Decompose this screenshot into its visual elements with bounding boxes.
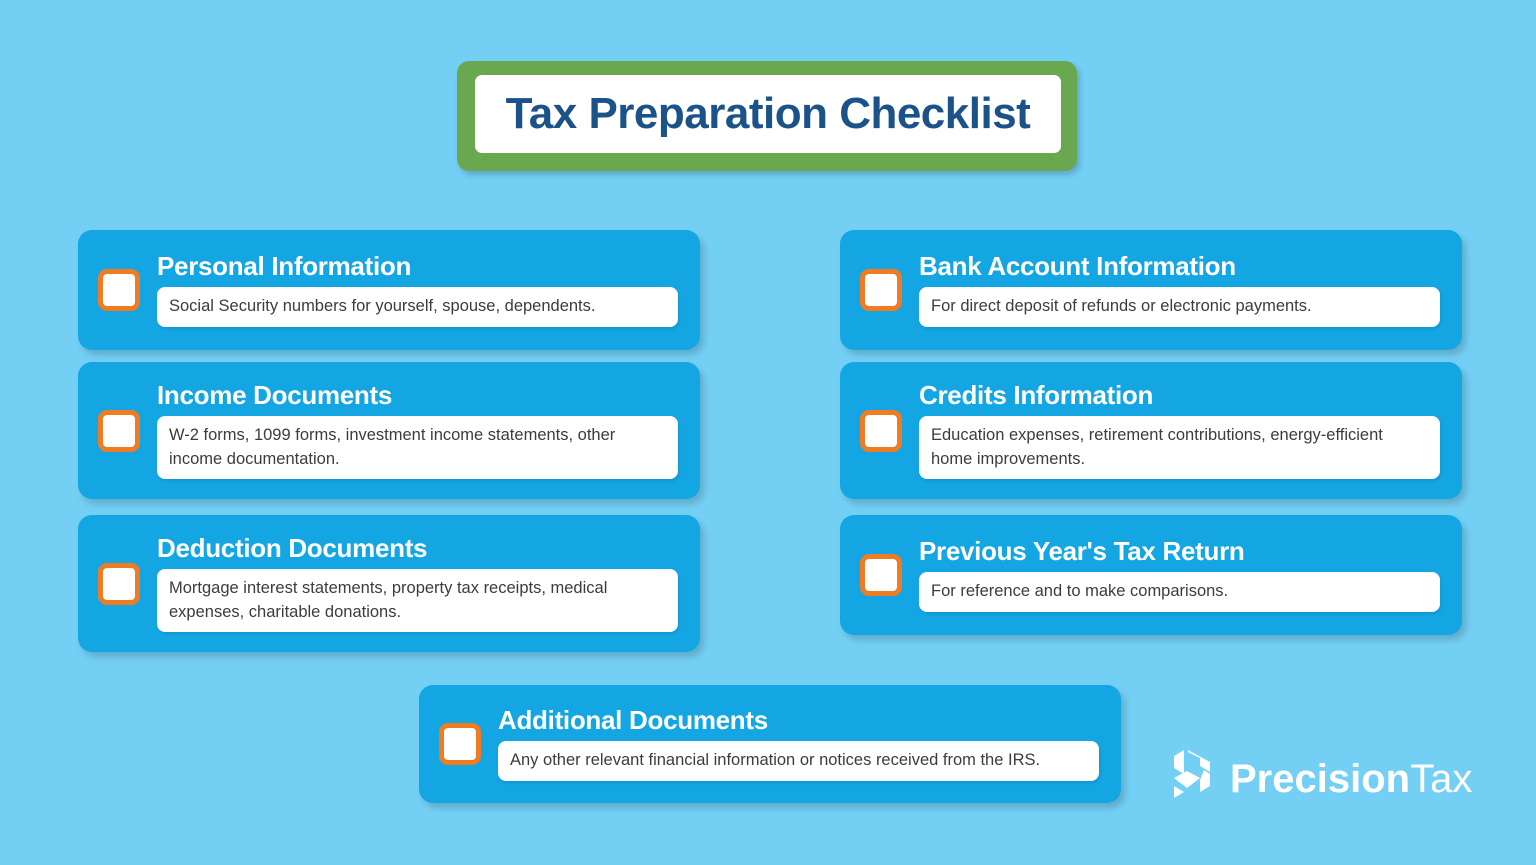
checklist-card-heading: Additional Documents bbox=[498, 707, 1099, 734]
checklist-card-description: For direct deposit of refunds or electro… bbox=[919, 287, 1440, 326]
checklist-card-body: Credits Information Education expenses, … bbox=[919, 382, 1440, 479]
checklist-card-heading: Personal Information bbox=[157, 253, 678, 280]
checklist-card-body: Personal Information Social Security num… bbox=[157, 253, 678, 327]
page-title-banner: Tax Preparation Checklist bbox=[457, 61, 1077, 171]
empty-checkbox-icon[interactable] bbox=[98, 269, 140, 311]
empty-checkbox-icon[interactable] bbox=[860, 269, 902, 311]
checklist-card-body: Bank Account Information For direct depo… bbox=[919, 253, 1440, 327]
checklist-card[interactable]: Previous Year's Tax Return For reference… bbox=[840, 515, 1462, 635]
tax-preparation-checklist-infographic: { "title": "Tax Preparation Checklist", … bbox=[0, 0, 1536, 865]
brand-name-light: Tax bbox=[1410, 757, 1472, 801]
checklist-card-body: Previous Year's Tax Return For reference… bbox=[919, 538, 1440, 612]
empty-checkbox-icon[interactable] bbox=[98, 563, 140, 605]
checklist-card-body: Income Documents W-2 forms, 1099 forms, … bbox=[157, 382, 678, 479]
checklist-card[interactable]: Deduction Documents Mortgage interest st… bbox=[78, 515, 700, 652]
checklist-card-heading: Credits Information bbox=[919, 382, 1440, 409]
checklist-card-description: Mortgage interest statements, property t… bbox=[157, 569, 678, 632]
brand-name-bold: Precision bbox=[1230, 757, 1410, 801]
checklist-card[interactable]: Bank Account Information For direct depo… bbox=[840, 230, 1462, 350]
empty-checkbox-icon[interactable] bbox=[860, 554, 902, 596]
checklist-card-description: Any other relevant financial information… bbox=[498, 741, 1099, 780]
checklist-card[interactable]: Additional Documents Any other relevant … bbox=[419, 685, 1121, 803]
checklist-card-description: W-2 forms, 1099 forms, investment income… bbox=[157, 416, 678, 479]
checklist-card[interactable]: Income Documents W-2 forms, 1099 forms, … bbox=[78, 362, 700, 499]
checklist-card-description: Education expenses, retirement contribut… bbox=[919, 416, 1440, 479]
checklist-card[interactable]: Personal Information Social Security num… bbox=[78, 230, 700, 350]
checklist-card-body: Additional Documents Any other relevant … bbox=[498, 707, 1099, 781]
precision-tax-hexagon-p-icon bbox=[1160, 748, 1216, 810]
checklist-card-heading: Deduction Documents bbox=[157, 535, 678, 562]
checklist-card-description: Social Security numbers for yourself, sp… bbox=[157, 287, 678, 326]
checklist-card-heading: Previous Year's Tax Return bbox=[919, 538, 1440, 565]
empty-checkbox-icon[interactable] bbox=[98, 410, 140, 452]
checklist-card-body: Deduction Documents Mortgage interest st… bbox=[157, 535, 678, 632]
checklist-card-heading: Income Documents bbox=[157, 382, 678, 409]
empty-checkbox-icon[interactable] bbox=[860, 410, 902, 452]
checklist-card[interactable]: Credits Information Education expenses, … bbox=[840, 362, 1462, 499]
brand-logo: PrecisionTax bbox=[1160, 748, 1472, 810]
page-title: Tax Preparation Checklist bbox=[506, 89, 1031, 139]
page-title-inner: Tax Preparation Checklist bbox=[475, 75, 1061, 153]
brand-logo-text: PrecisionTax bbox=[1230, 759, 1472, 799]
checklist-card-description: For reference and to make comparisons. bbox=[919, 572, 1440, 611]
empty-checkbox-icon[interactable] bbox=[439, 723, 481, 765]
checklist-card-heading: Bank Account Information bbox=[919, 253, 1440, 280]
